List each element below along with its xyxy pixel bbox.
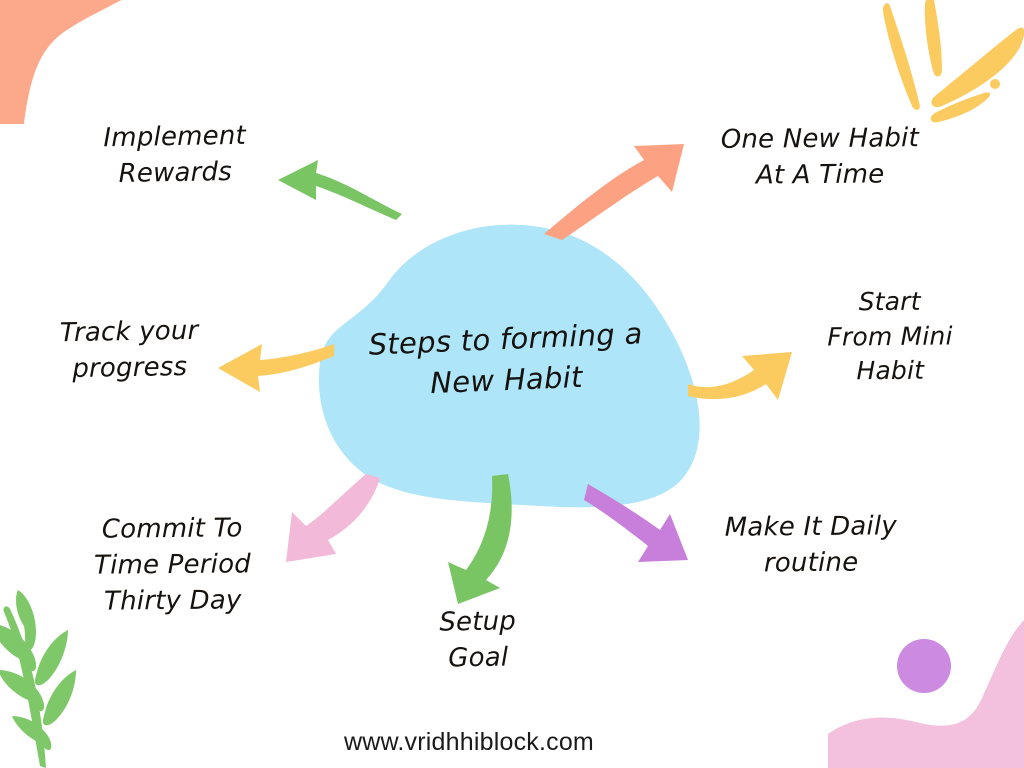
- label-line: routine: [686, 545, 936, 583]
- branch-label-track-progress: Track your progress: [21, 313, 237, 388]
- label-line: Goal: [398, 639, 559, 678]
- purple-dot-decoration: [897, 639, 951, 693]
- branch-label-setup-goal: Setup Goal: [397, 604, 558, 679]
- label-line: Track your: [21, 313, 237, 353]
- label-line: Make It Daily: [686, 509, 936, 547]
- label-line: Thirty Day: [60, 583, 285, 621]
- mindmap-canvas: Steps to forming a New Habit: [0, 0, 1024, 768]
- label-line: Rewards: [60, 154, 291, 194]
- branch-label-one-new-habit: One New Habit At A Time: [680, 121, 961, 195]
- label-line: progress: [22, 349, 238, 389]
- label-line: At A Time: [680, 157, 960, 195]
- arrow-to-implement-rewards: [272, 138, 407, 222]
- label-line: Commit To: [60, 511, 285, 549]
- branch-label-implement-rewards: Implement Rewards: [59, 118, 290, 194]
- label-line: One New Habit: [680, 121, 960, 159]
- yellow-burst-decoration: [872, 0, 1024, 123]
- label-line: From Mini: [790, 319, 990, 355]
- branch-label-make-daily: Make It Daily routine: [686, 509, 937, 583]
- arrow-to-start-mini-habit: [686, 322, 801, 407]
- coral-blob-decoration: [0, 0, 132, 124]
- label-line: Habit: [790, 353, 990, 389]
- branch-label-start-mini-habit: Start From Mini Habit: [790, 284, 991, 389]
- arrow-to-make-daily: [586, 476, 701, 571]
- arrow-to-setup-goal: [438, 472, 543, 607]
- branch-label-commit-time: Commit To Time Period Thirty Day: [60, 511, 286, 621]
- arrow-to-one-new-habit: [538, 126, 693, 241]
- footer-url: www.vridhhiblock.com: [0, 728, 1024, 757]
- label-line: Start: [790, 284, 990, 320]
- label-line: Setup: [397, 604, 558, 643]
- label-line: Time Period: [60, 547, 285, 585]
- label-line: Implement: [59, 118, 290, 158]
- center-blob: [296, 210, 716, 510]
